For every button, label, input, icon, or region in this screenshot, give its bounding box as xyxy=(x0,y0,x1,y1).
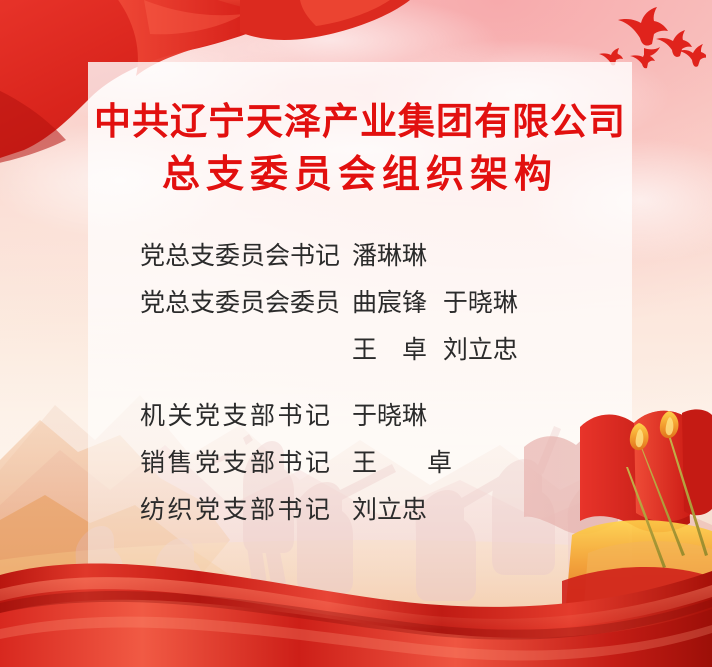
roster-role-label: 党总支委员会委员 xyxy=(88,283,338,319)
roster-role-label: 机关党支部书记 xyxy=(88,396,338,432)
roster-names: 潘琳琳 xyxy=(338,236,427,272)
roster-role-label: 纺织党支部书记 xyxy=(88,490,338,526)
title-line-2: 总支委员会组织架构 xyxy=(88,148,632,200)
roster-names: 刘立忠 xyxy=(338,490,427,526)
roster-row: 党总支委员会书记 潘琳琳 xyxy=(88,236,632,283)
roster-row: 机关党支部书记 于晓琳 xyxy=(88,396,632,443)
roster-role-label: 销售党支部书记 xyxy=(88,443,338,479)
org-roster-list: 党总支委员会书记 潘琳琳 党总支委员会委员 曲宸锋 于晓琳 王 卓 刘立忠 机关… xyxy=(88,236,632,537)
red-ribbon-tip xyxy=(240,0,440,70)
party-org-chart-poster: 中共辽宁天泽产业集团有限公司 总支委员会组织架构 党总支委员会书记 潘琳琳 党总… xyxy=(0,0,712,667)
roster-names: 于晓琳 xyxy=(338,396,427,432)
roster-names: 王 卓 刘立忠 xyxy=(338,330,518,366)
roster-row-continuation: 王 卓 刘立忠 xyxy=(88,330,632,377)
title-line-1: 中共辽宁天泽产业集团有限公司 xyxy=(88,96,632,148)
roster-names: 曲宸锋 于晓琳 xyxy=(338,283,518,319)
red-satin-ribbon-bottom xyxy=(0,537,712,667)
poster-title: 中共辽宁天泽产业集团有限公司 总支委员会组织架构 xyxy=(88,96,632,200)
roster-role-label: 党总支委员会书记 xyxy=(88,236,338,272)
roster-names: 王 卓 xyxy=(338,443,452,479)
roster-row: 党总支委员会委员 曲宸锋 于晓琳 xyxy=(88,283,632,330)
roster-row: 纺织党支部书记 刘立忠 xyxy=(88,490,632,537)
roster-row: 销售党支部书记 王 卓 xyxy=(88,443,632,490)
